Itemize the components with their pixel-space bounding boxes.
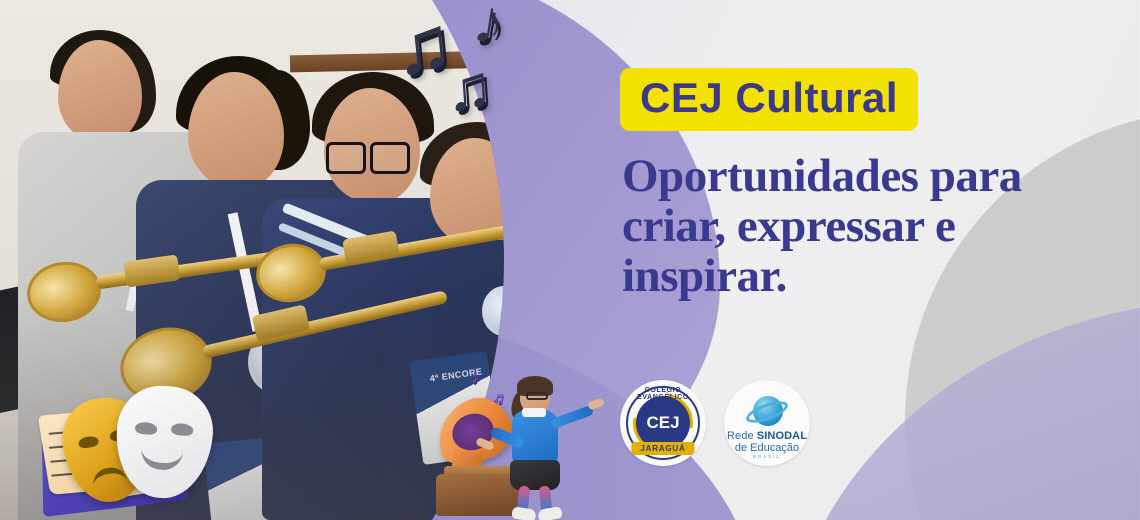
content-column: CEJ Cultural Oportunidades para criar, e… bbox=[620, 0, 1140, 520]
logo-sinodal-line-2: de Educação bbox=[724, 442, 810, 454]
cej-cultural-banner: 4ª ENCORE ♫ ♪ ♫ bbox=[0, 0, 1140, 520]
headline-line-3: inspirar. bbox=[622, 252, 1062, 302]
dancer-glasses-icon bbox=[526, 392, 548, 400]
logo-sinodal-line-1: Rede SINODAL bbox=[724, 430, 810, 442]
logo-colegio-evangelico-cej: COLÉGIO EVANGÉLICO CEJ JARAGUÁ bbox=[620, 380, 706, 466]
logo-sinodal-line-3: BRASIL bbox=[724, 454, 810, 459]
music-note-icon: ♫ bbox=[444, 56, 495, 121]
cej-cultural-badge: CEJ Cultural bbox=[620, 68, 918, 131]
logo-cej-center-text: CEJ bbox=[646, 413, 679, 433]
logo-group: COLÉGIO EVANGÉLICO CEJ JARAGUÁ Rede SINO… bbox=[620, 380, 810, 466]
music-notes-group: ♫ ♪ ♫ bbox=[390, 2, 560, 122]
globe-icon bbox=[746, 394, 788, 430]
dancing-girl-illustration bbox=[494, 378, 594, 520]
headline-line-1: Oportunidades para bbox=[622, 152, 1062, 202]
headline: Oportunidades para criar, expressar e in… bbox=[622, 152, 1062, 301]
logo-cej-bottom-text: JARAGUÁ bbox=[631, 442, 694, 455]
book-and-masks-illustration bbox=[2, 382, 192, 512]
music-note-icon: ♪ bbox=[469, 0, 509, 56]
logo-rede-sinodal: Rede SINODAL de Educação BRASIL bbox=[724, 380, 810, 466]
headline-line-2: criar, expressar e bbox=[622, 202, 1062, 252]
